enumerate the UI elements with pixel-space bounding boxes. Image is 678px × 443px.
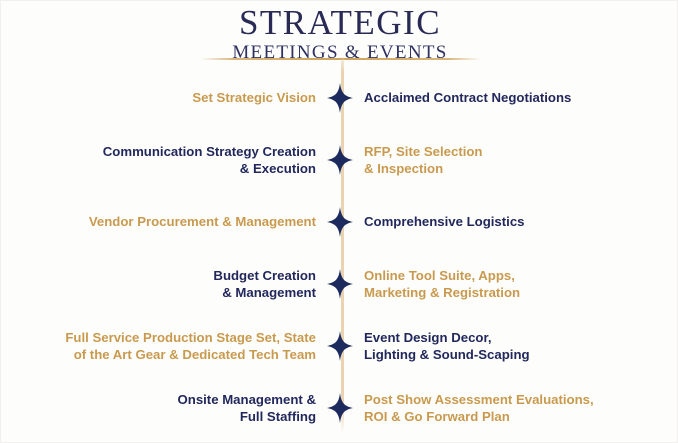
timeline-row: Set Strategic VisionAcclaimed Contract N…	[1, 67, 678, 129]
infographic-canvas: STRATEGIC MEETINGS & EVENTS Set Strategi…	[0, 0, 678, 443]
timeline-row: Full Service Production Stage Set, State…	[1, 315, 678, 377]
four-pointed-star-icon	[325, 191, 355, 253]
row-left-label: Full Service Production Stage Set, State…	[48, 329, 325, 364]
row-left-label: Vendor Procurement & Management	[48, 213, 325, 230]
four-pointed-star-icon	[325, 377, 355, 439]
four-pointed-star-icon	[325, 315, 355, 377]
row-left-label: Onsite Management &Full Staffing	[48, 391, 325, 426]
timeline-row: Communication Strategy Creation& Executi…	[1, 129, 678, 191]
row-right-label: Acclaimed Contract Negotiations	[355, 89, 632, 106]
four-pointed-star-icon	[325, 129, 355, 191]
row-left-label: Communication Strategy Creation& Executi…	[48, 143, 325, 178]
timeline-row: Onsite Management &Full StaffingPost Sho…	[1, 377, 678, 439]
row-right-label: Event Design Decor,Lighting & Sound-Scap…	[355, 329, 632, 364]
four-pointed-star-icon	[325, 253, 355, 315]
header: STRATEGIC MEETINGS & EVENTS	[1, 5, 678, 66]
timeline-row: Budget Creation& ManagementOnline Tool S…	[1, 253, 678, 315]
row-right-label: Online Tool Suite, Apps,Marketing & Regi…	[355, 267, 632, 302]
row-right-label: Post Show Assessment Evaluations,ROI & G…	[355, 391, 632, 426]
rows-container: Set Strategic VisionAcclaimed Contract N…	[1, 67, 678, 439]
page-title: STRATEGIC	[1, 5, 678, 40]
row-right-label: RFP, Site Selection& Inspection	[355, 143, 632, 178]
row-left-label: Budget Creation& Management	[48, 267, 325, 302]
four-pointed-star-icon	[325, 67, 355, 129]
timeline-row: Vendor Procurement & ManagementComprehen…	[1, 191, 678, 253]
row-right-label: Comprehensive Logistics	[355, 213, 632, 230]
page-subtitle: MEETINGS & EVENTS	[1, 40, 678, 66]
row-left-label: Set Strategic Vision	[48, 89, 325, 106]
